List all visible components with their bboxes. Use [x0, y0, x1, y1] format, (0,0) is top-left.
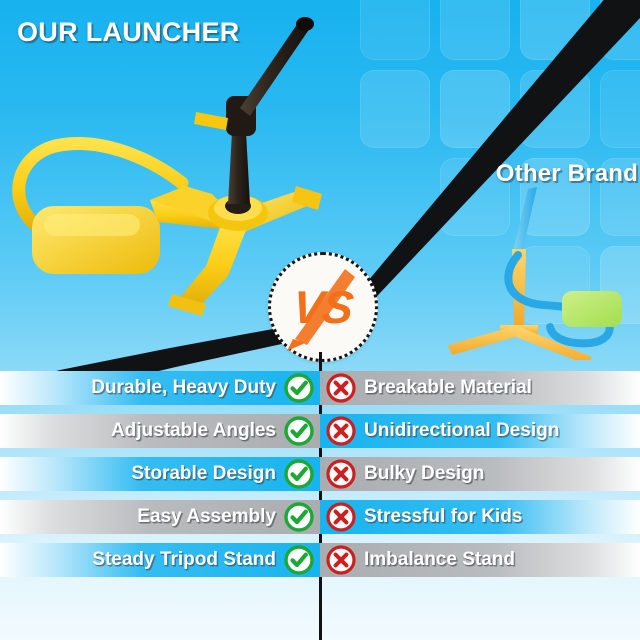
other-brand-product [440, 185, 640, 360]
cross-circle-icon [326, 373, 356, 403]
cross-circle-icon [326, 502, 356, 532]
other-feature-column: Breakable MaterialUnidirectional DesignB… [320, 371, 640, 633]
feature-label: Adjustable Angles [111, 420, 276, 442]
feature-row: Adjustable Angles [0, 414, 320, 448]
other-brand-title: Other Brand [496, 160, 638, 188]
feature-row: Durable, Heavy Duty [0, 371, 320, 405]
check-circle-icon [284, 459, 314, 489]
feature-label: Storable Design [131, 463, 276, 485]
vs-label: VS [291, 284, 355, 330]
feature-row: Storable Design [0, 457, 320, 491]
feature-label: Breakable Material [364, 377, 532, 399]
feature-label: Durable, Heavy Duty [91, 377, 276, 399]
our-feature-column: Durable, Heavy DutyAdjustable AnglesStor… [0, 371, 320, 633]
feature-label: Easy Assembly [137, 506, 276, 528]
feature-row: Imbalance Stand [320, 543, 640, 577]
cross-circle-icon [326, 459, 356, 489]
feature-row: Unidirectional Design [320, 414, 640, 448]
feature-row: Bulky Design [320, 457, 640, 491]
our-launcher-title: OUR LAUNCHER [17, 17, 240, 48]
feature-label: Steady Tripod Stand [92, 549, 276, 571]
feature-row: Easy Assembly [0, 500, 320, 534]
feature-row: Stressful for Kids [320, 500, 640, 534]
feature-label: Bulky Design [364, 463, 484, 485]
check-circle-icon [284, 502, 314, 532]
comparison-table: Durable, Heavy DutyAdjustable AnglesStor… [0, 371, 640, 633]
vs-badge: VS [268, 252, 378, 362]
feature-label: Imbalance Stand [364, 549, 515, 571]
feature-label: Unidirectional Design [364, 420, 559, 442]
feature-row: Breakable Material [320, 371, 640, 405]
feature-row: Steady Tripod Stand [0, 543, 320, 577]
feature-label: Stressful for Kids [364, 506, 522, 528]
cross-circle-icon [326, 416, 356, 446]
check-circle-icon [284, 373, 314, 403]
check-circle-icon [284, 545, 314, 575]
check-circle-icon [284, 416, 314, 446]
infographic-canvas: VS OUR LAUNCHER Other Brand Durable, Hea… [0, 0, 640, 640]
cross-circle-icon [326, 545, 356, 575]
